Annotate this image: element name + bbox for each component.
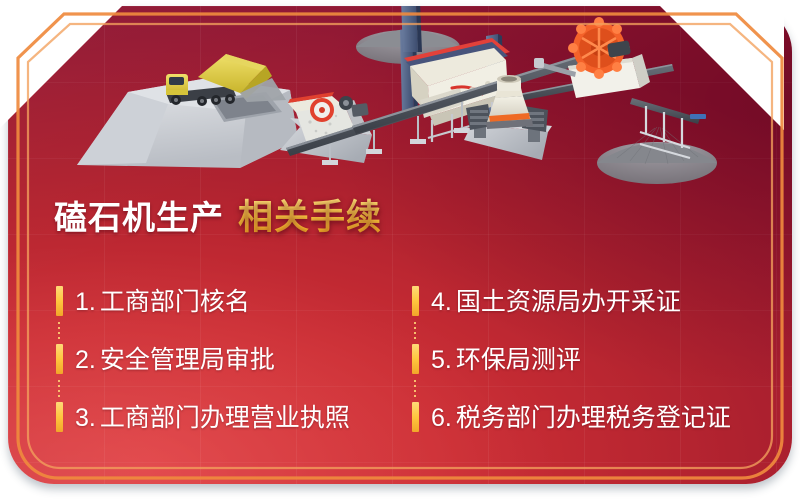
list-item-number: 4. xyxy=(431,288,452,316)
procedure-list-left: 1.工商部门核名 2.安全管理局审批 3.工商部门办理营业执照 xyxy=(56,273,416,447)
list-item[interactable]: 3.工商部门办理营业执照 xyxy=(56,389,416,447)
page-title: 磕石机生产相关手续 xyxy=(54,200,382,235)
list-item[interactable]: 1.工商部门核名 xyxy=(56,273,416,331)
bullet-bar xyxy=(412,344,419,374)
list-item[interactable]: 5.环保局测评 xyxy=(412,331,792,389)
list-item-number: 2. xyxy=(75,346,96,374)
title-accent: 相关手续 xyxy=(238,198,382,237)
list-item-number: 3. xyxy=(75,404,96,432)
bullet-bar xyxy=(412,402,419,432)
list-item-number: 1. xyxy=(75,288,96,316)
list-item-label: 工商部门办理营业执照 xyxy=(100,404,350,432)
list-item-label: 税务部门办理税务登记证 xyxy=(456,404,731,432)
list-item-label: 环保局测评 xyxy=(456,346,581,374)
list-item-number: 5. xyxy=(431,346,452,374)
list-item-text: 3.工商部门办理营业执照 xyxy=(75,406,350,431)
bullet-bar xyxy=(412,286,419,316)
bullet-bar xyxy=(56,286,63,316)
list-item-text: 2.安全管理局审批 xyxy=(75,348,275,373)
bullet-bar xyxy=(56,402,63,432)
list-item[interactable]: 4.国土资源局办开采证 xyxy=(412,273,792,331)
list-item-number: 6. xyxy=(431,404,452,432)
list-item-text: 5.环保局测评 xyxy=(431,348,581,373)
list-item[interactable]: 6.税务部门办理税务登记证 xyxy=(412,389,792,447)
list-item-label: 工商部门核名 xyxy=(100,288,250,316)
title-primary: 磕石机生产 xyxy=(54,199,224,236)
procedure-list-right: 4.国土资源局办开采证 5.环保局测评 6.税务部门办理税务登记证 xyxy=(412,273,792,447)
list-item-text: 6.税务部门办理税务登记证 xyxy=(431,406,731,431)
bullet-bar xyxy=(56,344,63,374)
list-item[interactable]: 2.安全管理局审批 xyxy=(56,331,416,389)
list-item-text: 4.国土资源局办开采证 xyxy=(431,290,681,315)
banner-image: 磕石机生产相关手续 1.工商部门核名 2.安全管理局审批 3.工商部门办理营业执… xyxy=(0,0,800,500)
list-item-text: 1.工商部门核名 xyxy=(75,290,250,315)
banner-content: 磕石机生产相关手续 1.工商部门核名 2.安全管理局审批 3.工商部门办理营业执… xyxy=(0,185,800,485)
list-item-label: 国土资源局办开采证 xyxy=(456,288,681,316)
list-item-label: 安全管理局审批 xyxy=(100,346,275,374)
